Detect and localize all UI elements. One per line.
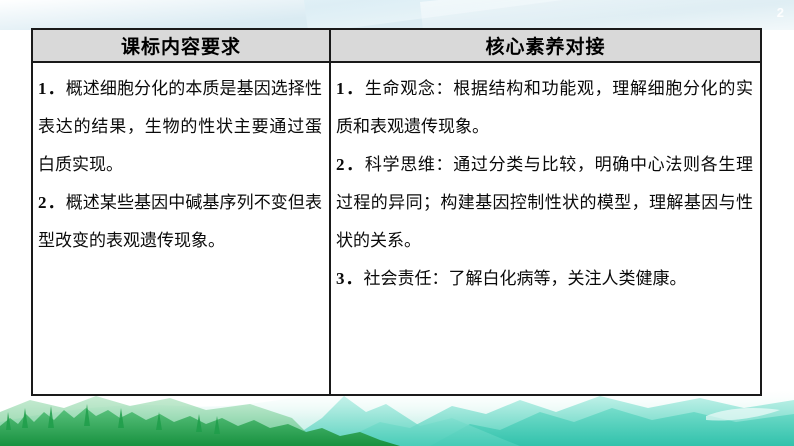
list-item-number: 2．	[336, 155, 365, 174]
top-band-highlight-wedge	[420, 0, 794, 30]
list-item-text: 社会责任：了解白化病等，关注人类健康。	[364, 269, 687, 288]
table-header-row: 课标内容要求 核心素养对接	[33, 30, 760, 63]
page-number: 2	[777, 6, 784, 19]
list-item-text: 科学思维：通过分类与比较，明确中心法则各生理过程的异同；构建基因控制性状的模型，…	[336, 155, 753, 250]
list-item-number: 2．	[38, 193, 66, 212]
list-item: 1．概述细胞分化的本质是基因选择性表达的结果，生物的性状主要通过蛋白质实现。	[38, 70, 322, 184]
top-band-wedge	[300, 0, 794, 30]
list-item-number: 3．	[336, 269, 364, 288]
top-band-gradient	[0, 0, 794, 30]
content-table: 课标内容要求 核心素养对接 1．概述细胞分化的本质是基因选择性表达的结果，生物的…	[31, 28, 762, 396]
list-item: 2．科学思维：通过分类与比较，明确中心法则各生理过程的异同；构建基因控制性状的模…	[336, 146, 753, 260]
table-body-row: 1．概述细胞分化的本质是基因选择性表达的结果，生物的性状主要通过蛋白质实现。 2…	[33, 63, 760, 394]
table-cell-core-literacy: 1．生命观念：根据结构和功能观，理解细胞分化的实质和表观遗传现象。 2．科学思维…	[331, 63, 760, 394]
list-item-text: 概述细胞分化的本质是基因选择性表达的结果，生物的性状主要通过蛋白质实现。	[38, 79, 322, 174]
list-item: 1．生命观念：根据结构和功能观，理解细胞分化的实质和表观遗传现象。	[336, 70, 753, 146]
table-cell-standard-requirements: 1．概述细胞分化的本质是基因选择性表达的结果，生物的性状主要通过蛋白质实现。 2…	[33, 63, 331, 394]
top-decorative-band	[0, 0, 794, 30]
list-item-number: 1．	[38, 79, 66, 98]
list-item-text: 生命观念：根据结构和功能观，理解细胞分化的实质和表观遗传现象。	[336, 79, 753, 136]
list-item-text: 概述某些基因中碱基序列不变但表型改变的表观遗传现象。	[38, 193, 322, 250]
list-item: 3．社会责任：了解白化病等，关注人类健康。	[336, 260, 753, 298]
table-header-cell-standard-requirements: 课标内容要求	[33, 30, 331, 61]
table-header-cell-core-literacy: 核心素养对接	[331, 30, 760, 61]
list-item: 2．概述某些基因中碱基序列不变但表型改变的表观遗传现象。	[38, 184, 322, 260]
list-item-number: 1．	[336, 79, 365, 98]
